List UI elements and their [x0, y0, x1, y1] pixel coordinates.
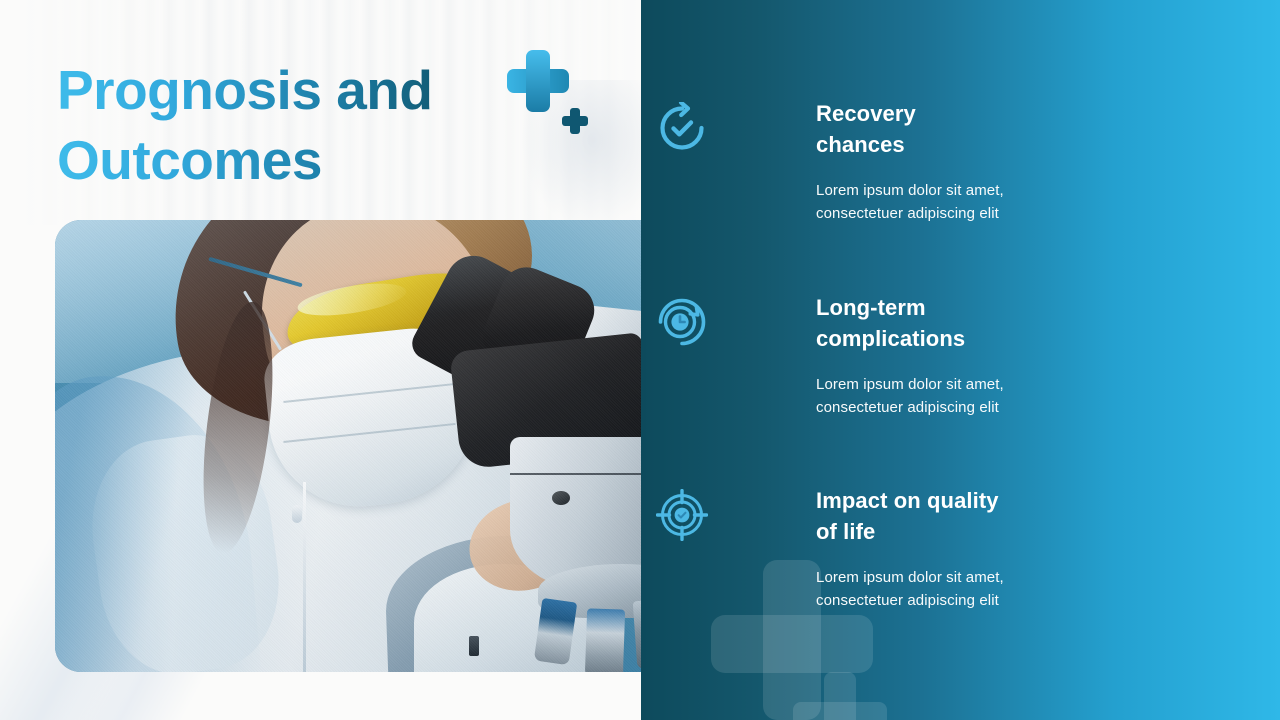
- feature-body: Lorem ipsum dolor sit amet, consectetuer…: [816, 374, 1246, 420]
- feature-item-recovery-chances[interactable]: Recovery chances Lorem ipsum dolor sit a…: [816, 98, 1246, 226]
- feature-list: Recovery chances Lorem ipsum dolor sit a…: [641, 0, 1280, 720]
- clock-history-icon: [656, 296, 708, 348]
- medical-cross-large-icon: [507, 50, 569, 112]
- feature-heading: Impact on quality of life: [816, 485, 1246, 547]
- recovery-circle-check-icon: [656, 102, 708, 154]
- feature-item-long-term-complications[interactable]: Long-term complications Lorem ipsum dolo…: [816, 292, 1246, 420]
- right-panel: Recovery chances Lorem ipsum dolor sit a…: [641, 0, 1280, 720]
- slide: Prognosis and Outcomes: [0, 0, 1280, 720]
- feature-body: Lorem ipsum dolor sit amet, consectetuer…: [816, 180, 1246, 226]
- feature-heading: Recovery chances: [816, 98, 1246, 160]
- cross-bar-vertical: [526, 50, 550, 112]
- target-crosshair-icon: [656, 489, 708, 541]
- page-title: Prognosis and Outcomes: [57, 55, 577, 196]
- cross-bar-vertical: [570, 108, 580, 134]
- feature-heading: Long-term complications: [816, 292, 1246, 354]
- feature-body: Lorem ipsum dolor sit amet, consectetuer…: [816, 567, 1246, 613]
- feature-item-impact-on-quality-of-life[interactable]: Impact on quality of life Lorem ipsum do…: [816, 485, 1246, 613]
- medical-cross-small-icon: [562, 108, 588, 134]
